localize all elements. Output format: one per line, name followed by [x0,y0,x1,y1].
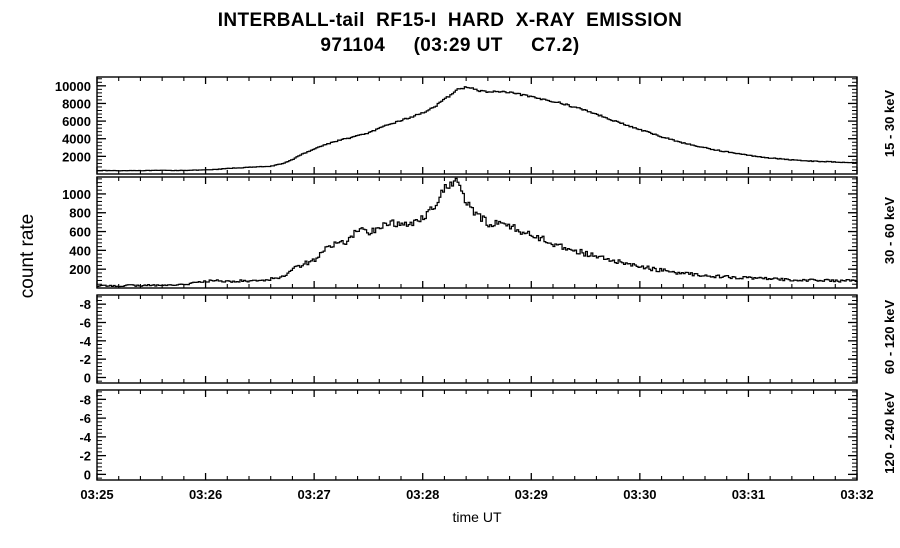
y-tick-label: -8 [79,297,91,312]
x-tick-label: 03:32 [840,487,873,502]
band-label-60-120: 60 - 120 keV [882,293,897,381]
y-tick-label: 2000 [62,149,91,164]
data-trace [97,178,857,286]
y-tick-label: 8000 [62,96,91,111]
panel-4 [97,390,857,480]
y-tick-label: 0 [84,467,91,482]
panel-frame [97,177,857,288]
x-tick-label: 03:28 [406,487,439,502]
y-tick-label: 600 [69,225,91,240]
chart-canvas: 2000400060008000100002004006008001000-8-… [0,0,900,548]
y-tick-label: 4000 [62,132,91,147]
panel-frame [97,390,857,480]
x-tick-label: 03:26 [189,487,222,502]
band-label-30-60: 30 - 60 keV [882,175,897,286]
y-tick-label: 800 [69,206,91,221]
x-tick-label: 03:30 [623,487,656,502]
x-axis-title: time UT [453,509,502,525]
x-tick-label: 03:25 [80,487,113,502]
y-tick-label: 1000 [62,187,91,202]
x-tick-label: 03:27 [298,487,331,502]
panel-frame [97,295,857,383]
y-tick-label: 400 [69,243,91,258]
y-tick-label: -4 [79,334,91,349]
x-tick-label: 03:29 [515,487,548,502]
panel-1 [97,77,857,174]
band-label-15-30: 15 - 30 keV [882,75,897,172]
y-tick-label: 200 [69,262,91,277]
panel-3 [97,295,857,383]
panel-2 [97,177,857,288]
y-tick-label: -6 [79,316,91,331]
panel-frame [97,77,857,174]
y-tick-label: -4 [79,430,91,445]
y-tick-label: -8 [79,392,91,407]
y-tick-label: -2 [79,449,91,464]
y-tick-label: 6000 [62,114,91,129]
y-tick-label: 10000 [55,79,91,94]
y-tick-label: 0 [84,371,91,386]
band-label-120-240: 120 - 240 keV [882,388,897,478]
x-tick-label: 03:31 [732,487,765,502]
y-tick-label: -6 [79,411,91,426]
data-trace [97,87,857,171]
y-tick-label: -2 [79,352,91,367]
chart-page: INTERBALL-tail RF15-I HARD X-RAY EMISSIO… [0,0,900,548]
